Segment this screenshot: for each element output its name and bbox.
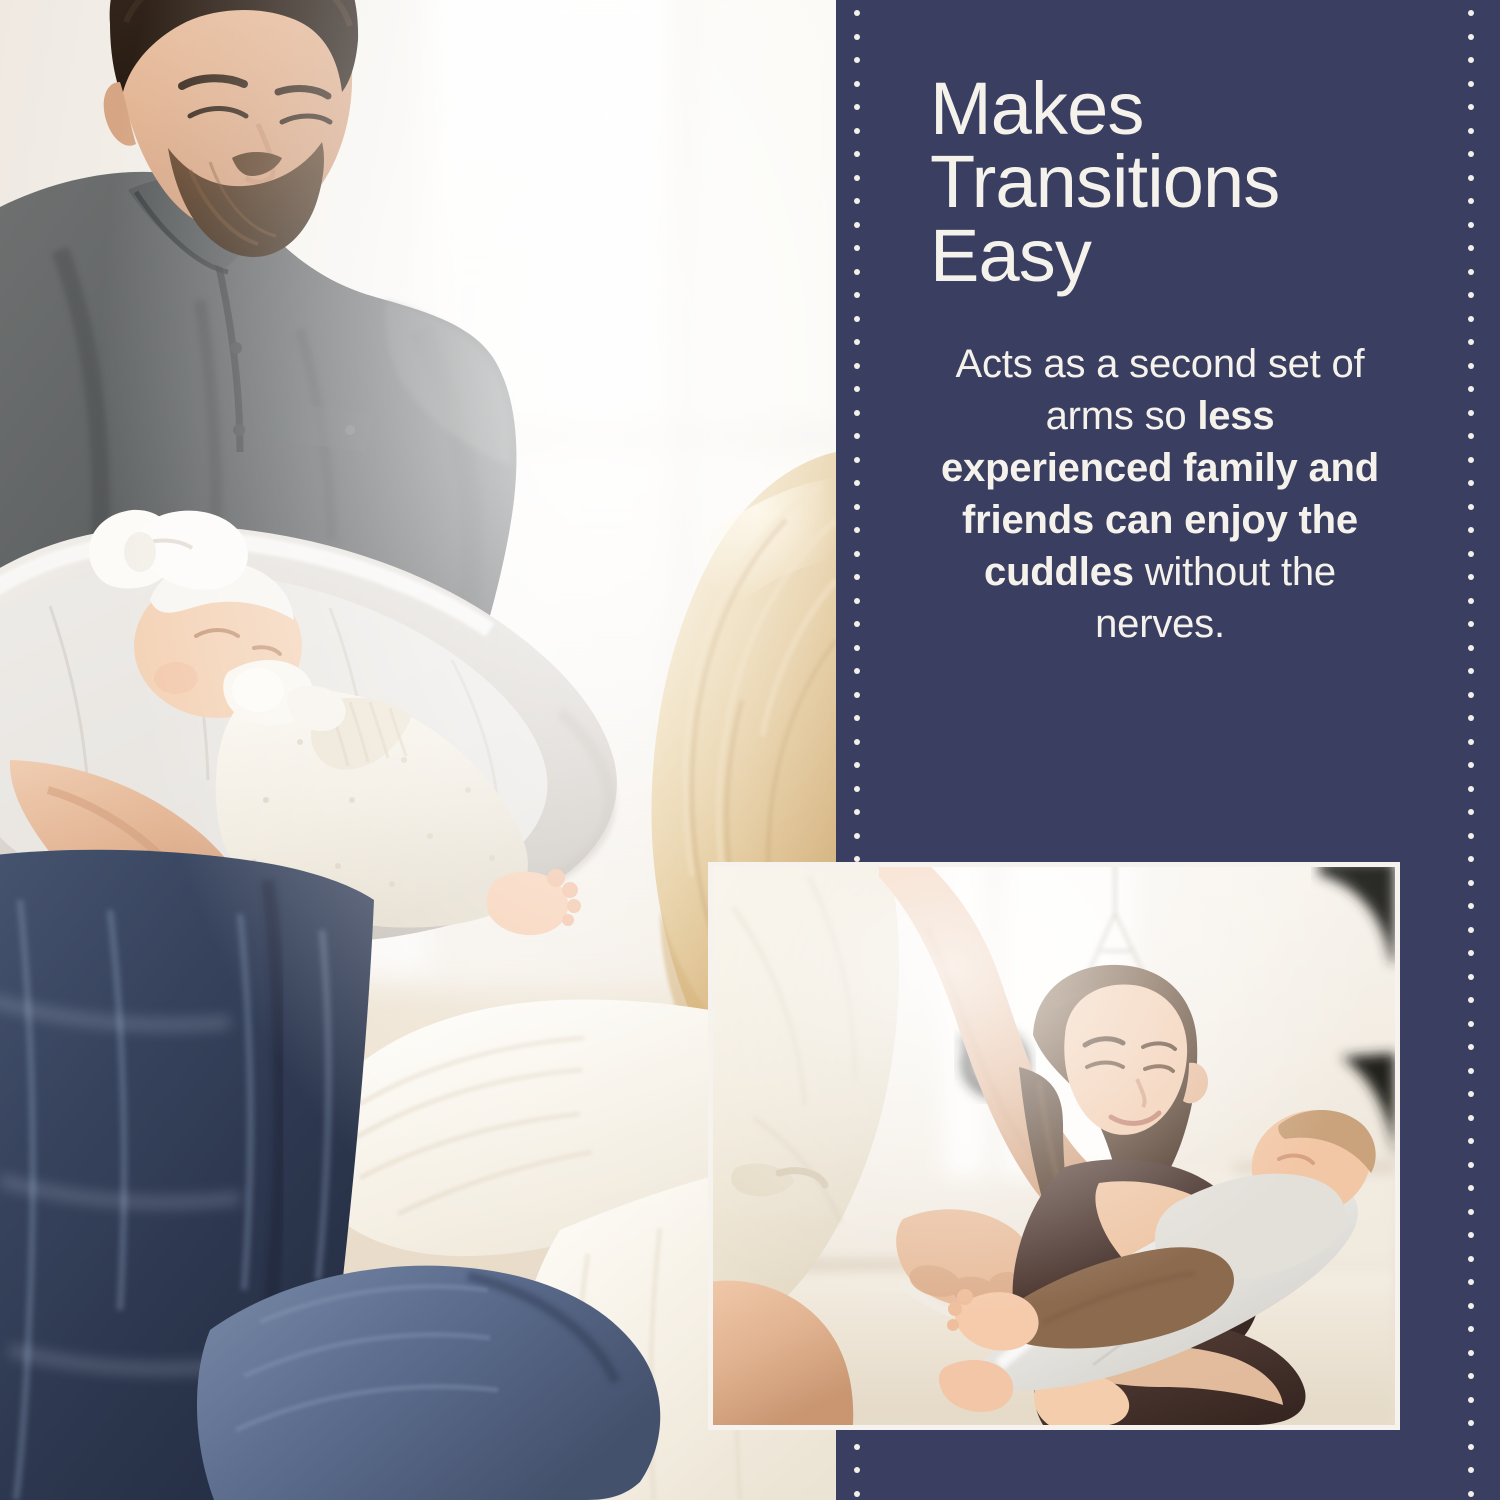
dot-marker [1468, 833, 1474, 839]
dot-marker [854, 833, 860, 839]
dot-marker [854, 386, 860, 392]
dot-marker [1468, 1373, 1474, 1379]
dot-marker [1468, 598, 1474, 604]
dot-marker [1468, 856, 1474, 862]
dot-marker [1468, 386, 1474, 392]
dot-marker [1468, 574, 1474, 580]
dot-marker [1468, 1138, 1474, 1144]
dot-marker [854, 621, 860, 627]
dot-marker [1468, 222, 1474, 228]
dot-marker [1468, 692, 1474, 698]
dot-marker [1468, 1444, 1474, 1450]
dot-marker [1468, 128, 1474, 134]
dot-marker [1468, 645, 1474, 651]
dot-marker [1468, 1420, 1474, 1426]
dot-marker [1468, 974, 1474, 980]
dot-marker [1468, 786, 1474, 792]
dot-marker [1468, 433, 1474, 439]
dot-marker [1468, 363, 1474, 369]
dot-marker [854, 480, 860, 486]
dot-marker [854, 245, 860, 251]
dot-marker [1468, 762, 1474, 768]
dot-marker [854, 457, 860, 463]
dot-marker [854, 34, 860, 40]
dot-marker [854, 1467, 860, 1473]
dot-marker [1468, 997, 1474, 1003]
dot-marker [1468, 1397, 1474, 1403]
dot-marker [854, 222, 860, 228]
dot-marker [854, 1444, 860, 1450]
dot-marker [1468, 1350, 1474, 1356]
dot-marker [854, 10, 860, 16]
dot-marker [1468, 104, 1474, 110]
dot-marker [854, 433, 860, 439]
dot-marker [854, 809, 860, 815]
dot-marker [854, 104, 860, 110]
dot-marker [854, 410, 860, 416]
dot-marker [854, 762, 860, 768]
dot-marker [1468, 1467, 1474, 1473]
dot-marker [1468, 1232, 1474, 1238]
dot-marker [1468, 410, 1474, 416]
dot-marker [854, 81, 860, 87]
dot-marker [854, 1491, 860, 1497]
body-copy: Acts as a second set of arms so less exp… [930, 338, 1390, 650]
dot-marker [1468, 292, 1474, 298]
dot-marker [854, 339, 860, 345]
dot-marker [854, 598, 860, 604]
dot-marker [1468, 269, 1474, 275]
dot-marker [854, 645, 860, 651]
dot-marker [854, 363, 860, 369]
dot-marker [1468, 245, 1474, 251]
dot-marker [1468, 950, 1474, 956]
dot-marker [1468, 809, 1474, 815]
dot-marker [1468, 527, 1474, 533]
dot-marker [1468, 621, 1474, 627]
dot-marker [1468, 81, 1474, 87]
dot-marker [1468, 1021, 1474, 1027]
dot-marker [854, 574, 860, 580]
dot-marker [1468, 316, 1474, 322]
dot-marker [854, 692, 860, 698]
dot-marker [1468, 480, 1474, 486]
dot-marker [854, 786, 860, 792]
promo-graphic: Makes Transitions Easy Acts as a second … [0, 0, 1500, 1500]
dot-marker [1468, 1185, 1474, 1191]
dot-marker [854, 504, 860, 510]
dot-marker [1468, 715, 1474, 721]
dot-marker [1468, 34, 1474, 40]
dot-marker [854, 128, 860, 134]
dot-marker [1468, 1256, 1474, 1262]
dot-marker [1468, 903, 1474, 909]
dot-marker [1468, 457, 1474, 463]
dot-marker [1468, 10, 1474, 16]
dot-marker [1468, 175, 1474, 181]
headline: Makes Transitions Easy [930, 0, 1390, 292]
dot-marker [1468, 551, 1474, 557]
dot-marker [854, 269, 860, 275]
dot-marker [1468, 668, 1474, 674]
dot-marker [854, 198, 860, 204]
dot-marker [1468, 1209, 1474, 1215]
dot-marker [854, 715, 860, 721]
dot-marker [854, 527, 860, 533]
dot-marker [1468, 927, 1474, 933]
dot-marker [1468, 880, 1474, 886]
dot-marker [1468, 339, 1474, 345]
dot-marker [1468, 1303, 1474, 1309]
dot-marker [1468, 1115, 1474, 1121]
dot-marker [854, 57, 860, 63]
dot-marker [854, 739, 860, 745]
dot-marker [1468, 198, 1474, 204]
dot-marker [1468, 1068, 1474, 1074]
dotted-rule-right [1468, 0, 1474, 1500]
inset-photo [708, 862, 1400, 1430]
dot-marker [854, 151, 860, 157]
dot-marker [854, 316, 860, 322]
body-copy-text: Acts as a second set of arms so [956, 342, 1365, 438]
dot-marker [1468, 1326, 1474, 1332]
dot-marker [1468, 1491, 1474, 1497]
dot-marker [1468, 151, 1474, 157]
copy-block: Makes Transitions Easy Acts as a second … [930, 0, 1390, 650]
dot-marker [1468, 504, 1474, 510]
dot-marker [1468, 1044, 1474, 1050]
inset-photo-frame [713, 867, 1395, 1425]
dot-marker [1468, 739, 1474, 745]
dot-marker [854, 175, 860, 181]
dot-marker [854, 668, 860, 674]
dot-marker [854, 292, 860, 298]
dot-marker [1468, 1279, 1474, 1285]
dot-marker [854, 551, 860, 557]
dot-marker [1468, 1162, 1474, 1168]
dot-marker [1468, 1091, 1474, 1097]
dot-marker [1468, 57, 1474, 63]
